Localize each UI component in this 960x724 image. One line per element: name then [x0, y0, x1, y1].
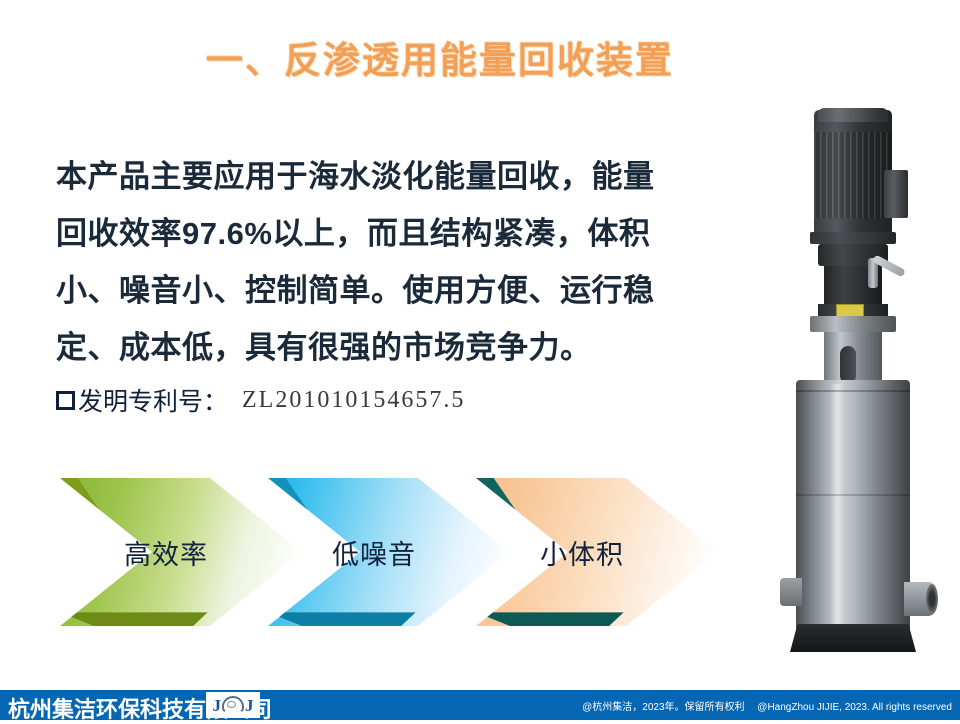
- patent-label: 发明专利号：: [78, 382, 228, 418]
- feature-chevron-row: 高效率 低噪音 小体积: [60, 478, 720, 638]
- footer-copyright: @杭州集洁，2023年。保留所有权利 @HangZhou JIJIE, 2023…: [582, 698, 952, 713]
- logo-letter-right: J: [245, 697, 254, 714]
- body-line: 本产品主要应用于海水淡化能量回收，能量: [56, 148, 696, 205]
- footer-copyright-en: @HangZhou JIJIE, 2023. All rights reserv…: [757, 702, 952, 713]
- square-bullet-icon: [56, 391, 75, 410]
- chevron-low-noise: 低噪音: [268, 478, 510, 626]
- pump-inlet-port-icon: [780, 578, 802, 606]
- chevron-label: 低噪音: [268, 478, 510, 626]
- footer-copyright-cn: @杭州集洁，2023年。保留所有权利: [582, 702, 744, 713]
- page-title: 一、反渗透用能量回收装置: [0, 30, 880, 84]
- pump-motor-cap-icon: [818, 108, 888, 122]
- chevron-label: 小体积: [476, 478, 718, 626]
- pump-motor-foot-icon: [810, 232, 896, 244]
- footer-bar: 杭州集洁环保科技有限公司 J J @杭州集洁，2023年。保留所有权利 @Han…: [0, 690, 960, 720]
- pump-barrel-icon: [796, 380, 910, 632]
- chevron-high-efficiency: 高效率: [60, 478, 302, 626]
- chevron-small-volume: 小体积: [476, 478, 718, 626]
- chevron-label: 高效率: [60, 478, 302, 626]
- body-line: 定、成本低，具有很强的市场竞争力。: [56, 319, 696, 376]
- pump-terminal-box-icon: [884, 170, 908, 218]
- body-paragraph: 本产品主要应用于海水淡化能量回收，能量 回收效率97.6%以上，而且结构紧凑，体…: [56, 148, 696, 376]
- pump-barrel-ring-icon: [796, 494, 910, 496]
- pump-top-flange-icon: [810, 316, 896, 332]
- company-logo-icon: J J: [206, 692, 260, 718]
- pump-barrel-ring-icon: [796, 390, 910, 392]
- patent-number-value: ZL201010154657.5: [242, 387, 465, 414]
- pump-base-plate-icon: [790, 624, 916, 652]
- logo-swirl-icon: [222, 696, 244, 714]
- pump-outlet-face-icon: [926, 584, 938, 614]
- pump-motor-fins-icon: [814, 132, 892, 218]
- patent-number-row: 发明专利号： ZL201010154657.5: [56, 382, 465, 418]
- body-line: 回收效率97.6%以上，而且结构紧凑，体积: [56, 205, 696, 262]
- pump-neck-slot-icon: [840, 346, 856, 384]
- pump-barrel-highlight-icon: [830, 384, 844, 624]
- body-line: 小、噪音小、控制简单。使用方便、运行稳: [56, 262, 696, 319]
- product-photo-pump: [762, 108, 958, 660]
- logo-letter-left: J: [213, 697, 222, 714]
